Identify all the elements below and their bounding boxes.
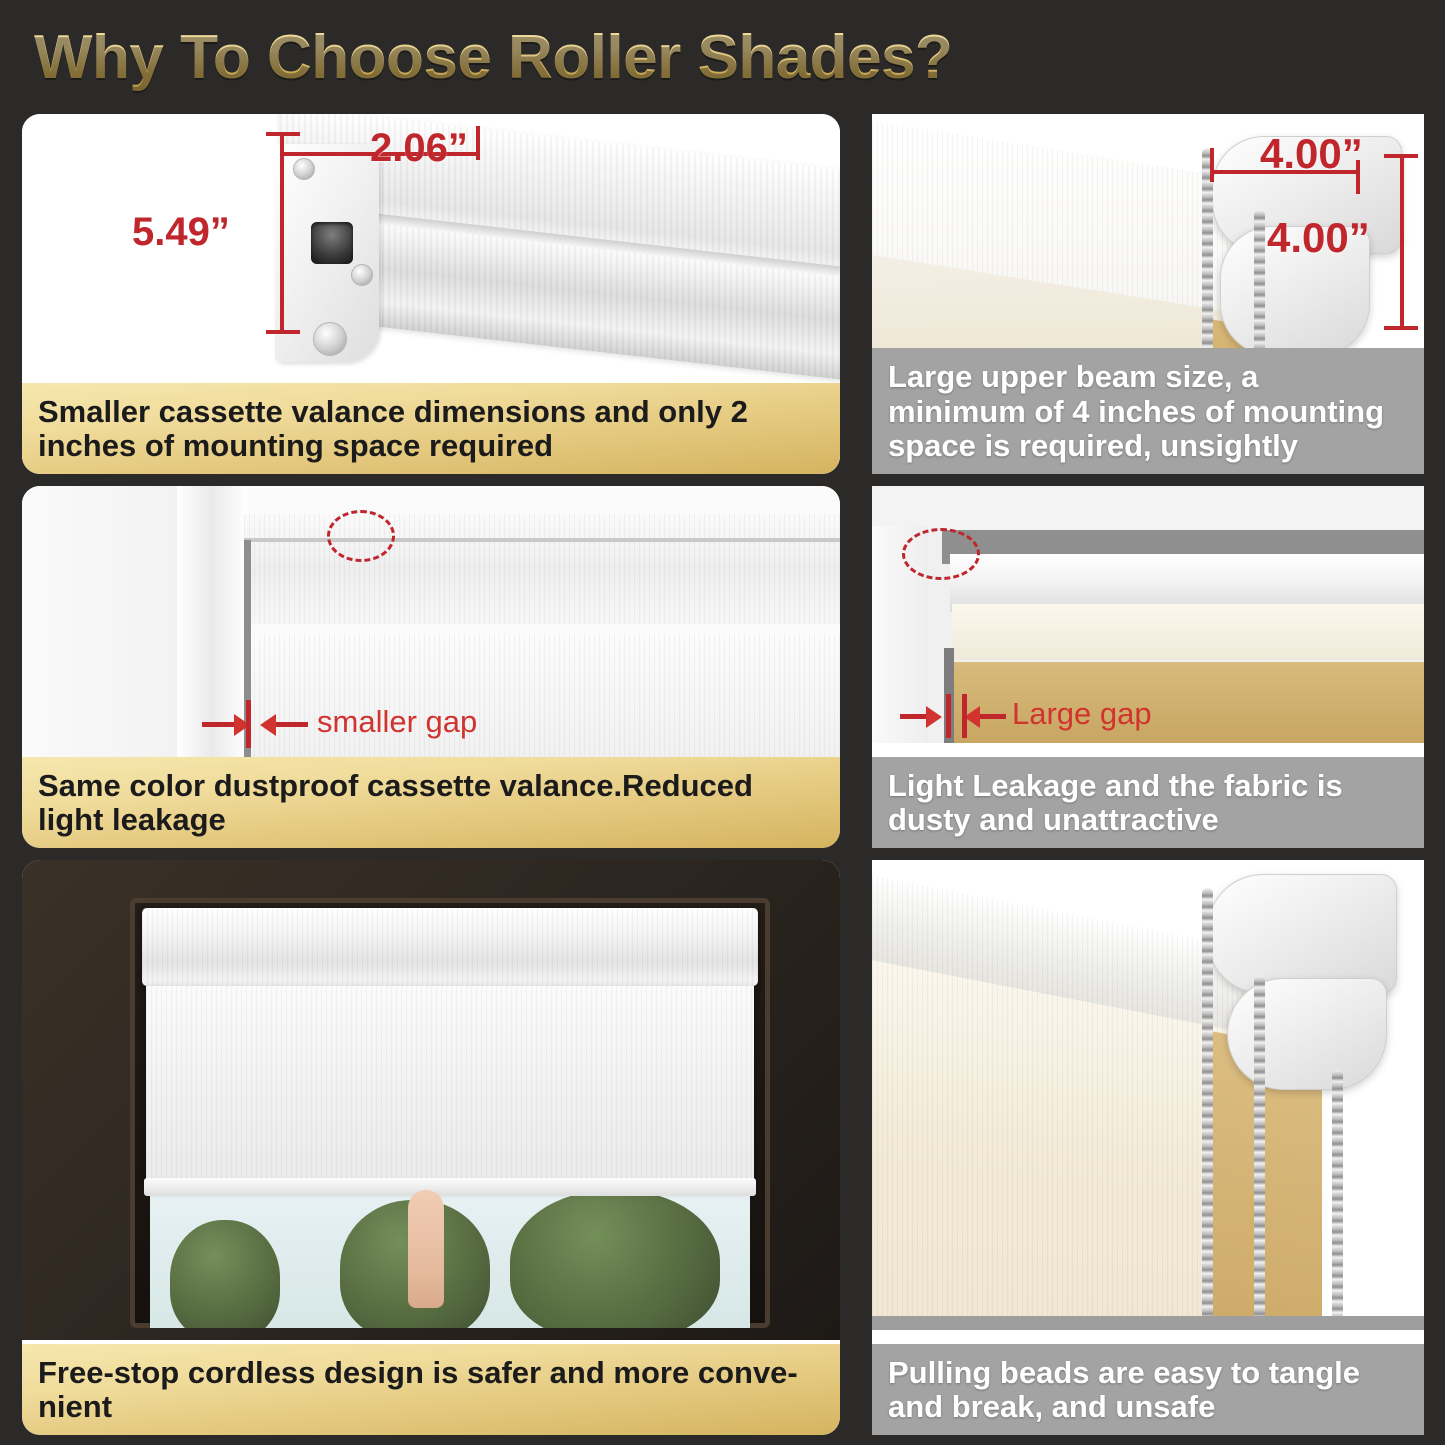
caption-line-1: Smaller cassette valance dimensions and … bbox=[38, 395, 824, 430]
caption-line-1: Same color dustproof cassette valance.Re… bbox=[38, 769, 824, 804]
beam-height-tick-bottom bbox=[1384, 326, 1418, 330]
bracket-photo: 4.00” 4.00” bbox=[872, 114, 1424, 369]
smaller-gap-label: smaller gap bbox=[317, 704, 477, 740]
caption-line-2: dusty and unattractive bbox=[888, 803, 1408, 838]
panel-large-upper-beam: 4.00” 4.00” Large upper beam size, a min… bbox=[872, 114, 1424, 474]
height-dimension-label: 5.49” bbox=[132, 210, 230, 255]
floor-band bbox=[872, 1316, 1424, 1330]
hand-pulling-shade bbox=[408, 1190, 444, 1308]
gap-arrow-head-left bbox=[926, 706, 942, 728]
gap-arrow-line-right bbox=[976, 714, 1006, 719]
panel-dustproof-valance: smaller gap Same color dustproof cassett… bbox=[22, 486, 840, 848]
panel-caption: Smaller cassette valance dimensions and … bbox=[22, 383, 840, 474]
bead-chain-photo bbox=[872, 860, 1424, 1330]
screw-mid bbox=[351, 264, 373, 286]
roller-bracket-upper bbox=[1207, 874, 1397, 994]
room-scene-photo bbox=[22, 860, 840, 1340]
caption-line-3: space is required, unsightly bbox=[888, 429, 1408, 464]
panel-pulling-beads: Pulling beads are easy to tangle and bre… bbox=[872, 860, 1424, 1435]
gap-arrow-head-right bbox=[260, 714, 276, 736]
panel-caption: Pulling beads are easy to tangle and bre… bbox=[872, 1344, 1424, 1435]
caption-line-1: Light Leakage and the fabric is bbox=[888, 769, 1408, 804]
panel-caption: Large upper beam size, a minimum of 4 in… bbox=[872, 348, 1424, 474]
gap-marker-bar-b bbox=[962, 694, 967, 738]
beam-height-dim-line bbox=[1400, 154, 1404, 329]
caption-line-2: inches of mounting space required bbox=[38, 429, 824, 464]
infographic-page: Why To Choose Roller Shades? 2.06” bbox=[0, 0, 1445, 1445]
tree-left bbox=[170, 1220, 280, 1328]
panel-light-leakage: Large gap Light Leakage and the fabric i… bbox=[872, 486, 1424, 848]
bottom-rail bbox=[144, 1178, 756, 1196]
panel-smaller-cassette: 2.06” 5.49” Smaller cassette valance dim… bbox=[22, 114, 840, 474]
height-dim-tick-bottom bbox=[266, 330, 300, 334]
gap-arrow-line-right bbox=[272, 722, 308, 727]
cord-slot bbox=[311, 222, 353, 264]
screw-bottom bbox=[313, 322, 347, 356]
height-dim-tick-top bbox=[266, 132, 300, 136]
beam-width-tick-left bbox=[1210, 148, 1214, 182]
gap-marker-bar bbox=[246, 700, 251, 748]
panel-caption: Free-stop cordless design is safer and m… bbox=[22, 1344, 840, 1435]
roller-bracket-lower bbox=[1227, 978, 1387, 1090]
cassette-headrail bbox=[142, 908, 758, 986]
gap-highlight-ellipse bbox=[327, 510, 395, 562]
window-corner-photo: smaller gap bbox=[22, 486, 840, 758]
caption-line-1: Large upper beam size, a bbox=[888, 360, 1408, 395]
width-dim-tick-right bbox=[476, 126, 480, 160]
fabric-cream-band bbox=[952, 604, 1424, 660]
large-gap-label: Large gap bbox=[1012, 696, 1152, 732]
shade-fabric-texture bbox=[146, 986, 754, 1186]
ceiling-band bbox=[872, 486, 1424, 532]
height-dim-line bbox=[280, 132, 284, 334]
beam-width-label: 4.00” bbox=[1260, 130, 1363, 178]
beam-height-tick-top bbox=[1384, 154, 1418, 158]
valance-photo: 2.06” 5.49” bbox=[22, 114, 840, 384]
beam-height-label: 4.00” bbox=[1267, 214, 1370, 262]
width-dimension-label: 2.06” bbox=[370, 126, 468, 171]
headrail-texture bbox=[142, 908, 758, 986]
gap-highlight-ellipse bbox=[902, 528, 980, 580]
bead-chain-back bbox=[1254, 210, 1265, 369]
caption-line-2: minimum of 4 inches of mounting bbox=[888, 395, 1408, 430]
caption-line-1: Free-stop cordless design is safer and m… bbox=[38, 1356, 824, 1391]
tree-right bbox=[510, 1190, 720, 1328]
panel-cordless-design: Free-stop cordless design is safer and m… bbox=[22, 860, 840, 1435]
gap-marker-bar-a bbox=[946, 694, 951, 738]
caption-line-2: nient bbox=[38, 1390, 824, 1425]
panel-caption: Light Leakage and the fabric is dusty an… bbox=[872, 757, 1424, 848]
bead-chain-1 bbox=[1202, 888, 1213, 1330]
screw-top bbox=[293, 158, 315, 180]
shade-fabric bbox=[146, 986, 754, 1186]
page-title: Why To Choose Roller Shades? bbox=[34, 22, 952, 93]
large-gap-photo: Large gap bbox=[872, 486, 1424, 743]
wall-surface bbox=[22, 486, 202, 758]
bead-chain-3 bbox=[1332, 1070, 1343, 1330]
panel-caption: Same color dustproof cassette valance.Re… bbox=[22, 757, 840, 848]
panel-grid: 2.06” 5.49” Smaller cassette valance dim… bbox=[0, 104, 1445, 1445]
gap-arrow-line-left bbox=[202, 722, 238, 727]
caption-line-2: light leakage bbox=[38, 803, 824, 838]
caption-line-2: and break, and unsafe bbox=[888, 1390, 1408, 1425]
caption-line-1: Pulling beads are easy to tangle bbox=[888, 1356, 1408, 1391]
bead-chain-2 bbox=[1254, 976, 1265, 1330]
